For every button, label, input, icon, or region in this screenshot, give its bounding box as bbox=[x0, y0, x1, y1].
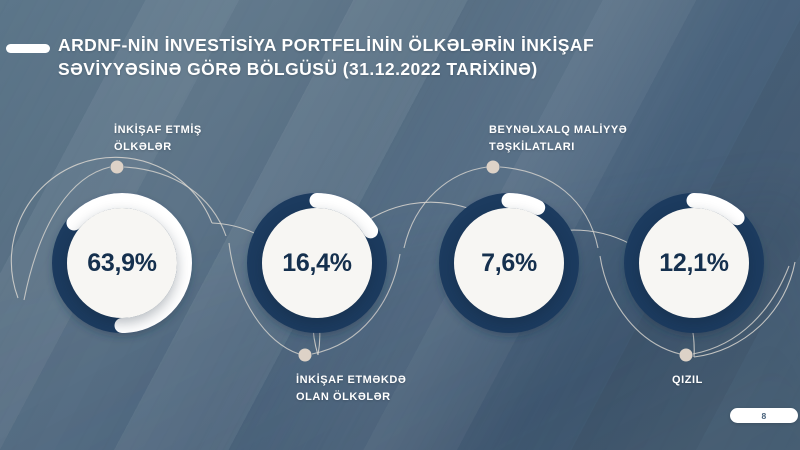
connector-dot-3 bbox=[487, 161, 500, 174]
donut-chart-gold: 12,1% bbox=[620, 189, 768, 337]
donut-chart-developing-countries: 16,4% bbox=[243, 189, 391, 337]
page-number: 8 bbox=[761, 411, 766, 421]
donut-2-value-label: 16,4% bbox=[282, 249, 351, 278]
connector-dot-1 bbox=[111, 161, 124, 174]
donut-chart-international-financial-organizations: 7,6% bbox=[435, 189, 583, 337]
page-number-pill: 8 bbox=[730, 408, 798, 423]
category-label-gold: QIZIL bbox=[672, 372, 703, 389]
donut-4-value-label: 12,1% bbox=[659, 249, 728, 278]
category-label-international-financial-organizations: BEYNƏLXALQ MALİYYƏ TƏŞKİLATLARI bbox=[489, 122, 627, 155]
slide-canvas: ARDNF-NİN İNVESTİSİYA PORTFELİNİN ÖLKƏLƏ… bbox=[0, 0, 800, 450]
page-title: ARDNF-NİN İNVESTİSİYA PORTFELİNİN ÖLKƏLƏ… bbox=[58, 33, 718, 81]
donut-2-center: 16,4% bbox=[262, 208, 372, 318]
donut-4-center: 12,1% bbox=[639, 208, 749, 318]
slide-header: ARDNF-NİN İNVESTİSİYA PORTFELİNİN ÖLKƏLƏ… bbox=[0, 0, 800, 92]
donut-1-value-label: 63,9% bbox=[87, 249, 156, 278]
connector-dot-2 bbox=[299, 349, 312, 362]
title-accent-dash bbox=[6, 44, 50, 53]
donut-3-center: 7,6% bbox=[454, 208, 564, 318]
connector-dot-4 bbox=[680, 349, 693, 362]
donut-chart-developed-countries: 63,9% bbox=[48, 189, 196, 337]
category-label-developing-countries: İNKİŞAF ETMƏKDƏ OLAN ÖLKƏLƏR bbox=[296, 372, 406, 405]
category-label-developed-countries: İNKİŞAF ETMİŞ ÖLKƏLƏR bbox=[114, 122, 202, 155]
connector-dots-group bbox=[111, 161, 693, 362]
donut-1-center: 63,9% bbox=[67, 208, 177, 318]
donut-3-value-label: 7,6% bbox=[481, 249, 537, 278]
